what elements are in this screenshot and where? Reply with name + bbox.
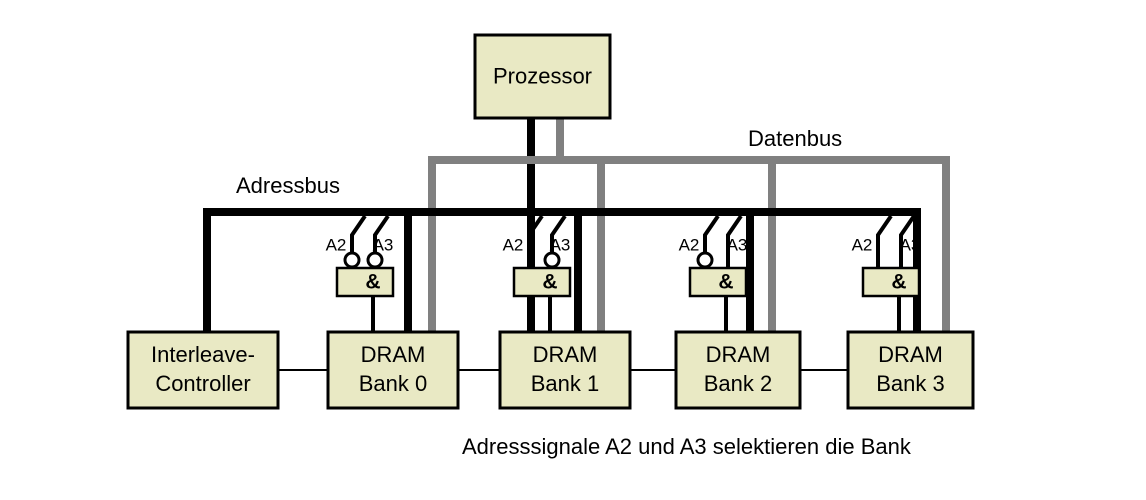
bank-0-decoder-a2-inverter-bubble-icon	[345, 253, 359, 267]
data-bus-label: Datenbus	[748, 126, 842, 151]
bank-0-decoder-and-gate-glyph-icon: &	[365, 271, 380, 294]
dram-bank-3-label-line2: Bank 3	[876, 371, 945, 396]
bank-0-decoder-a2-tap-wire	[352, 216, 365, 253]
dram-bank-3-label-line1: DRAM	[878, 342, 943, 367]
processor-box[interactable]: Prozessor	[475, 35, 610, 118]
bank-1-decoder-and-gate-glyph-icon: &	[542, 271, 557, 294]
dram-bank-2-label-line1: DRAM	[706, 342, 771, 367]
diagram-caption: Adresssignale A2 und A3 selektieren die …	[462, 434, 912, 459]
interleaving-diagram: A2A3&A2A3&A2A3&A2A3& Interleave-Controll…	[0, 0, 1146, 500]
dram-bank-1[interactable]: DRAMBank 1	[500, 332, 630, 408]
processor-box-label: Prozessor	[493, 63, 592, 88]
bank-1-decoder-a2-signal-label: A2	[503, 235, 524, 254]
dram-bank-1-label-line2: Bank 1	[531, 371, 600, 396]
bank-2-decoder-and-gate-glyph-icon: &	[718, 271, 733, 294]
dram-bank-2[interactable]: DRAMBank 2	[676, 332, 800, 408]
bank-2-decoder-a2-inverter-bubble-icon	[698, 253, 712, 267]
bank-1-decoder[interactable]: A2A3&	[503, 216, 571, 338]
dram-bank-0-label-line1: DRAM	[361, 342, 426, 367]
dram-bank-0-label-line2: Bank 0	[359, 371, 428, 396]
dram-bank-2-label-line2: Bank 2	[704, 371, 773, 396]
dram-bank-0[interactable]: DRAMBank 0	[328, 332, 458, 408]
bank-3-decoder-a2-signal-label: A2	[852, 235, 873, 254]
address-bus-label: Adressbus	[236, 173, 340, 198]
bank-0-decoder-a2-signal-label: A2	[326, 235, 347, 254]
decoder-layer: A2A3&A2A3&A2A3&A2A3&	[326, 216, 921, 338]
interleave-controller-label-line2: Controller	[155, 371, 250, 396]
bank-2-decoder-a3-signal-label: A3	[727, 235, 748, 254]
bank-2-decoder[interactable]: A2A3&	[679, 216, 748, 338]
interleave-controller-label-line1: Interleave-	[151, 342, 255, 367]
diagram-canvas: A2A3&A2A3&A2A3&A2A3& Interleave-Controll…	[0, 0, 1146, 500]
bank-3-decoder-and-gate-glyph-icon: &	[891, 271, 906, 294]
bank-0-decoder[interactable]: A2A3&	[326, 216, 394, 338]
bank-0-decoder-a3-inverter-bubble-icon	[368, 253, 382, 267]
bank-3-decoder-a2-tap-wire	[878, 216, 891, 268]
interleave-controller[interactable]: Interleave-Controller	[128, 332, 278, 408]
dram-bank-3[interactable]: DRAMBank 3	[848, 332, 973, 408]
bank-1-decoder-a3-signal-label: A3	[550, 235, 571, 254]
bank-2-decoder-a2-signal-label: A2	[679, 235, 700, 254]
bank-3-decoder[interactable]: A2A3&	[852, 216, 921, 338]
bank-3-decoder-a3-signal-label: A3	[900, 235, 921, 254]
bank-1-decoder-a3-inverter-bubble-icon	[545, 253, 559, 267]
dram-bank-1-label-line1: DRAM	[533, 342, 598, 367]
bank-2-decoder-a2-tap-wire	[705, 216, 718, 253]
bank-0-decoder-a3-signal-label: A3	[373, 235, 394, 254]
